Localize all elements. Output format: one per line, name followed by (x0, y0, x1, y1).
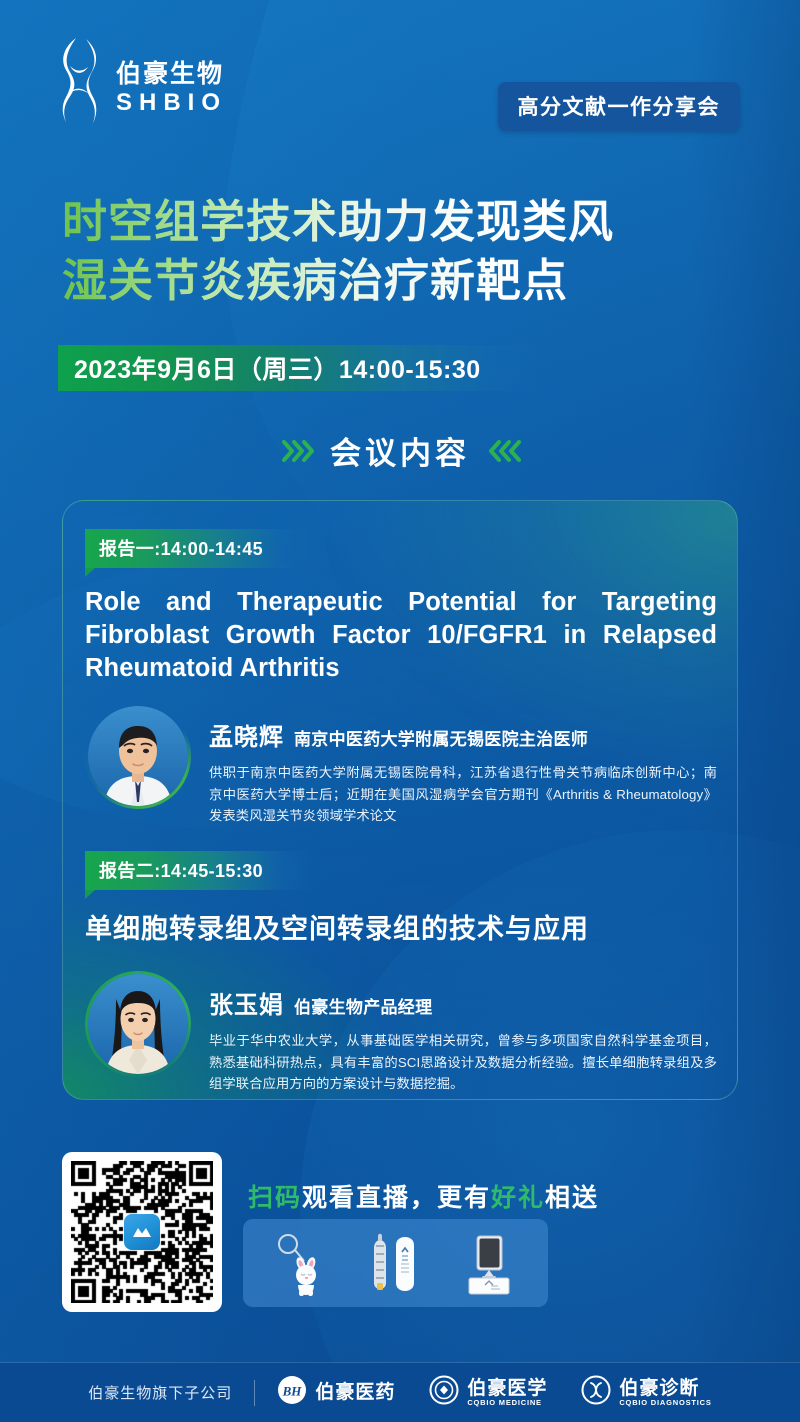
talk-2-speaker-text: 张玉娟 伯豪生物产品经理 毕业于华中农业大学，从事基础医学相关研究，曾参与多项国… (209, 971, 717, 1095)
date-bar: 2023年9月6日（周三）14:00-15:30 (58, 345, 545, 391)
qr-code[interactable] (62, 1152, 222, 1312)
section-heading-label: 会议内容 (330, 428, 470, 473)
poster-footer: 伯豪生物旗下子公司 BH 伯豪医药 伯豪医学 (0, 1363, 800, 1422)
gifts-panel (243, 1219, 548, 1307)
talk-2-time-badge: 报告二:14:45-15:30 (85, 851, 315, 890)
wechat-channels-icon (124, 1214, 160, 1250)
dna-helix-icon (56, 36, 102, 126)
phone-stand-icon (453, 1228, 523, 1298)
chevrons-right-icon (282, 440, 312, 462)
speaker-portrait-female (88, 974, 188, 1074)
top-badge: 高分文献一作分享会 (498, 82, 741, 131)
footer-company-diagnostics-cn: 伯豪诊断 (619, 1379, 711, 1399)
title-line-2: 湿关节炎疾病治疗新靶点 (62, 251, 742, 310)
live-promo-text: 扫码观看直播，更有好礼相送 (248, 1178, 599, 1214)
live-promo-part1: 扫码 (248, 1184, 302, 1212)
talk-item-2: 报告二:14:45-15:30 单细胞转录组及空间转录组的技术与应用 (63, 851, 738, 1095)
footer-company-medicine-text: 伯豪医学 CQBIO MEDICINE (467, 1379, 547, 1407)
footer-label: 伯豪生物旗下子公司 (88, 1382, 232, 1403)
footer-company-diagnostics-en: CQBIO DIAGNOSTICS (619, 1399, 711, 1407)
talk-1-speaker-role: 南京中医药大学附属无锡医院主治医师 (294, 725, 588, 750)
bh-circle-icon: BH (277, 1375, 307, 1410)
talk-1-speaker-text: 孟晓辉 南京中医药大学附属无锡医院主治医师 供职于南京中医药大学附属无锡医院骨科… (209, 703, 717, 827)
speaker-portrait-male (88, 706, 188, 806)
live-promo-part4: 相送 (545, 1184, 599, 1212)
title-line-1: 时空组学技术助力发现类风 (62, 192, 742, 251)
footer-company-medicine-cn: 伯豪医学 (467, 1379, 547, 1399)
brand-name-en: SHBIO (116, 90, 227, 115)
poster-root: 伯豪生物 SHBIO 高分文献一作分享会 时空组学技术助力发现类风 湿关节炎疾病… (0, 0, 800, 1422)
qr-block (62, 1152, 222, 1312)
talk-1-label-wrap: 报告一:14:00-14:45 (85, 529, 738, 568)
talk-item-1: 报告一:14:00-14:45 Role and Therapeutic Pot… (63, 529, 738, 827)
talk-1-speaker-identity: 孟晓辉 南京中医药大学附属无锡医院主治医师 (209, 717, 717, 752)
section-heading: 会议内容 (0, 428, 800, 473)
rabbit-keychain-icon (268, 1228, 338, 1298)
chevrons-left-icon (488, 440, 518, 462)
agenda-card: 报告一:14:00-14:45 Role and Therapeutic Pot… (62, 500, 738, 1100)
footer-company-medicine-en: CQBIO MEDICINE (467, 1399, 547, 1407)
talk-2-speaker-identity: 张玉娟 伯豪生物产品经理 (209, 985, 717, 1020)
talk-1-speaker: 孟晓辉 南京中医药大学附属无锡医院主治医师 供职于南京中医药大学附属无锡医院骨科… (85, 703, 717, 827)
brand-text: 伯豪生物 SHBIO (116, 47, 227, 114)
talk-2-speaker-name: 张玉娟 (209, 985, 284, 1020)
avatar-ring (85, 971, 191, 1077)
avatar-ring (85, 703, 191, 809)
cqbio-diagnostics-icon (581, 1375, 611, 1410)
poster-title: 时空组学技术助力发现类风 湿关节炎疾病治疗新靶点 (62, 192, 742, 311)
live-promo-part2: 观看直播，更有 (302, 1184, 491, 1212)
talk-1-title: Role and Therapeutic Potential for Targe… (85, 586, 717, 685)
footer-separator (254, 1380, 255, 1406)
talk-2-time-label: 报告二:14:45-15:30 (99, 861, 263, 881)
talk-1-time-badge: 报告一:14:00-14:45 (85, 529, 315, 568)
footer-company-bh: BH 伯豪医药 (277, 1375, 395, 1410)
brand-lockup: 伯豪生物 SHBIO (56, 36, 227, 126)
talk-2-speaker: 张玉娟 伯豪生物产品经理 毕业于华中农业大学，从事基础医学相关研究，曾参与多项国… (85, 971, 717, 1095)
poster-header: 伯豪生物 SHBIO 高分文献一作分享会 (0, 0, 800, 150)
talk-2-speaker-role: 伯豪生物产品经理 (294, 993, 432, 1018)
footer-company-diagnostics: 伯豪诊断 CQBIO DIAGNOSTICS (581, 1375, 711, 1410)
footer-company-diagnostics-text: 伯豪诊断 CQBIO DIAGNOSTICS (619, 1379, 711, 1407)
folding-umbrella-icon (360, 1228, 430, 1298)
talk-1-speaker-name: 孟晓辉 (209, 717, 284, 752)
footer-company-medicine: 伯豪医学 CQBIO MEDICINE (429, 1375, 547, 1410)
svg-text:BH: BH (282, 1384, 303, 1399)
footer-company-bh-text: 伯豪医药 (315, 1383, 395, 1403)
talk-2-title: 单细胞转录组及空间转录组的技术与应用 (85, 912, 717, 947)
talk-2-speaker-bio: 毕业于华中农业大学，从事基础医学相关研究，曾参与多项国家自然科学基金项目，熟悉基… (209, 1030, 717, 1095)
talk-1-time-label: 报告一:14:00-14:45 (99, 539, 263, 559)
talk-2-label-wrap: 报告二:14:45-15:30 (85, 851, 738, 890)
top-badge-label: 高分文献一作分享会 (518, 96, 721, 119)
date-bar-text: 2023年9月6日（周三）14:00-15:30 (58, 350, 481, 386)
live-promo-part3: 好礼 (491, 1184, 545, 1212)
talk-1-speaker-bio: 供职于南京中医药大学附属无锡医院骨科，江苏省退行性骨关节病临床创新中心；南京中医… (209, 762, 717, 827)
cqbio-medicine-icon (429, 1375, 459, 1410)
footer-company-bh-cn: 伯豪医药 (315, 1383, 395, 1403)
brand-name-cn: 伯豪生物 (116, 61, 227, 87)
